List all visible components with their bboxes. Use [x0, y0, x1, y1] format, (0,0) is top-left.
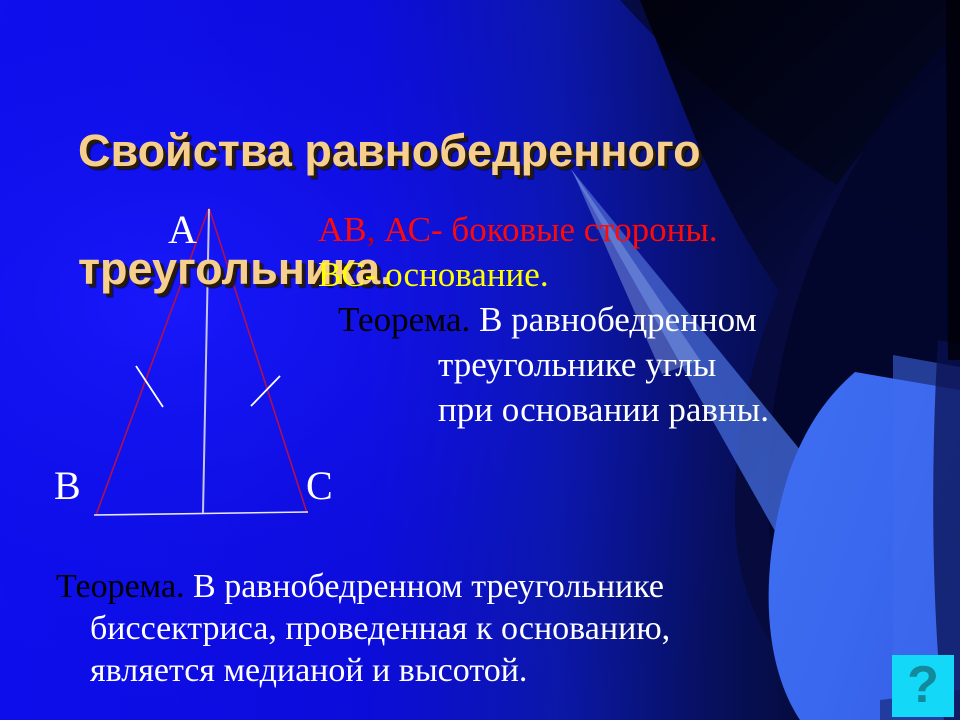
base-bc [94, 512, 308, 515]
theorem-top-text-1: В равнобедренном [470, 300, 756, 339]
segment-ab-label: АВ [318, 210, 367, 249]
theorem-top-text-3: при основании равны. [438, 390, 769, 429]
base-text: ВС- основание. [318, 255, 549, 294]
help-button[interactable]: ? [892, 655, 954, 717]
definitions-and-theorem-block: АВ, АС- боковые стороны. ВС- основание. … [318, 207, 918, 432]
theorem-top-text-2: треугольнике углы [438, 345, 716, 384]
lateral-sides-line: АВ, АС- боковые стороны. [318, 207, 918, 252]
theorem-bottom-text-2: биссектриса, проведенная к основанию, [90, 610, 670, 647]
tick-mark-left [136, 366, 163, 407]
theorem-bottom-line-2: биссектриса, проведенная к основанию, [56, 608, 886, 650]
comma-separator: , [367, 210, 385, 249]
theorem-top-line-3: при основании равны. [318, 387, 918, 432]
tick-mark-right [251, 376, 280, 406]
vertex-label-b: В [54, 466, 81, 506]
title-line-1: Свойства равнобедренного [78, 121, 768, 180]
question-mark-icon: ? [907, 659, 939, 711]
theorem-bottom-label: Теорема. [56, 568, 185, 605]
lateral-sides-text: АС- боковые стороны. [384, 210, 718, 249]
base-line: ВС- основание. [318, 252, 918, 297]
theorem-bottom-text-1: В равнобедренном треугольнике [185, 568, 664, 605]
presentation-slide: А В С Свойства равнобедренного треугольн… [0, 0, 960, 720]
theorem-bottom-text-3: является медианой и высотой. [90, 652, 527, 689]
vertex-label-c: С [306, 466, 333, 506]
theorem-top-label: Теорема. [338, 300, 470, 339]
theorem-top-line-2: треугольнике углы [318, 342, 918, 387]
theorem-top-line-1: Теорема. В равнобедренном [318, 297, 918, 342]
theorem-bottom-block: Теорема. В равнобедренном треугольнике б… [56, 566, 886, 692]
theorem-bottom-line-1: Теорема. В равнобедренном треугольнике [56, 566, 886, 608]
theorem-bottom-line-3: является медианой и высотой. [56, 650, 886, 692]
